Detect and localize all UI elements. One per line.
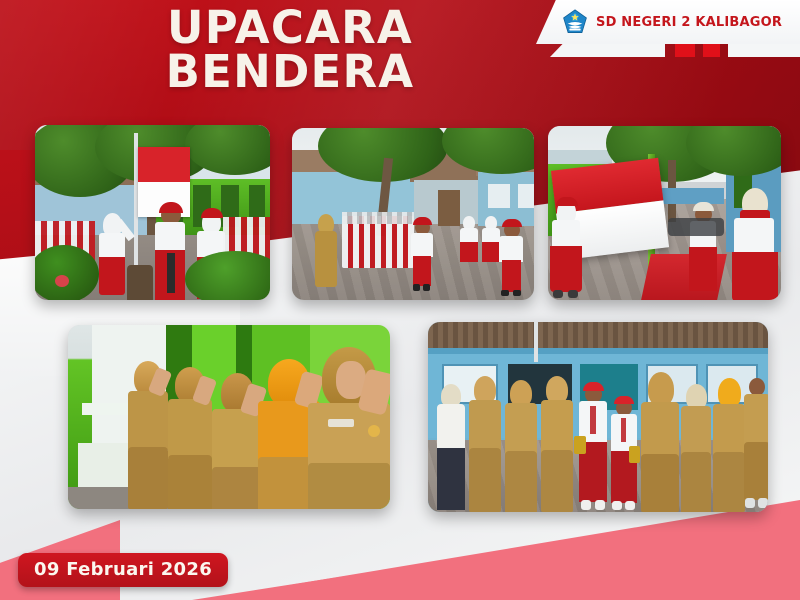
school-name-tag: SD NEGERI 2 KALIBAGOR [536,0,800,44]
school-name-label: SD NEGERI 2 KALIBAGOR [596,15,782,30]
photo-card-teachers-saluting[interactable] [68,325,390,509]
photo-card-ceremony-formation[interactable] [292,128,534,300]
photo-group-with-trophies-scene [428,322,768,512]
photo-flag-raising-scene [35,125,270,300]
photo-card-flag-raising[interactable] [35,125,270,300]
photo-flag-unfurled-scene [548,126,781,300]
poster-canvas: UPACARA BENDERA SD NEGERI 2 KALIBAGOR [0,0,800,600]
photo-ceremony-formation-scene [292,128,534,300]
photo-card-flag-unfurled[interactable] [548,126,781,300]
header-accent-strip [550,44,800,57]
poster-title: UPACARA BENDERA [60,6,520,94]
title-line-1: UPACARA [60,6,520,50]
tut-wuri-handayani-logo-icon [562,9,588,35]
title-line-2: BENDERA [60,50,520,94]
date-label: 09 Februari 2026 [34,559,212,580]
photo-teachers-saluting-scene [68,325,390,509]
photo-card-group-with-trophies[interactable] [428,322,768,512]
date-badge: 09 Februari 2026 [18,553,228,587]
